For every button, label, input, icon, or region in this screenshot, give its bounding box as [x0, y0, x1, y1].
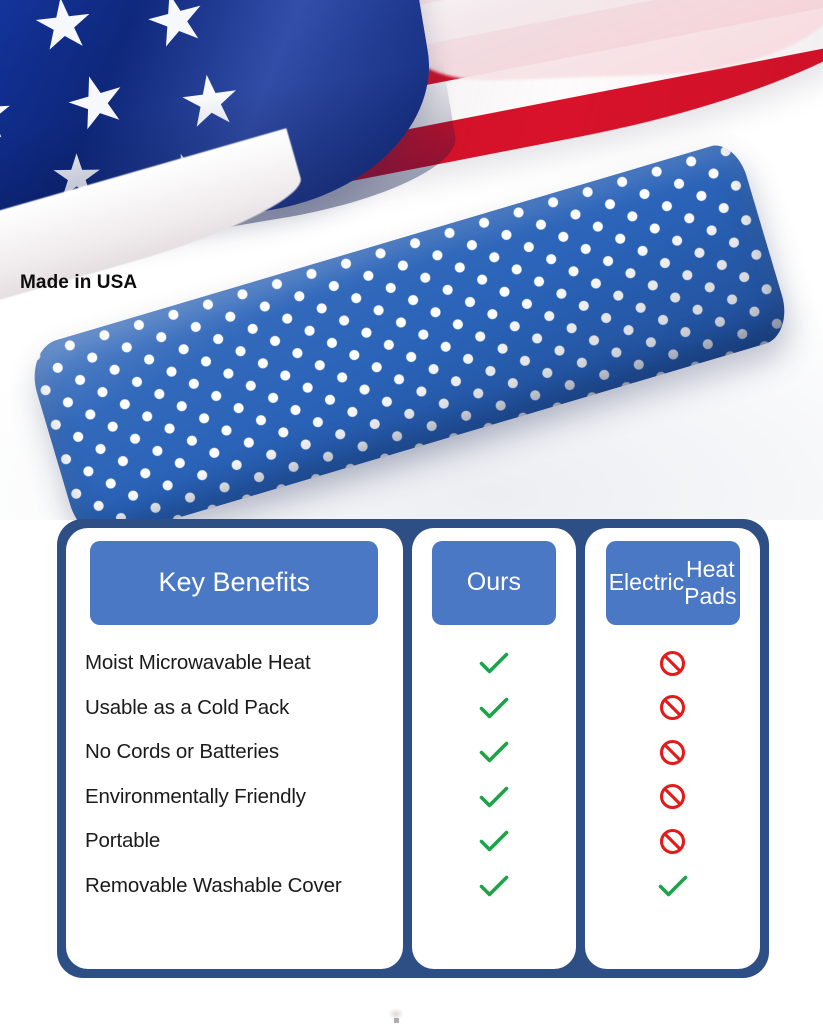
prohibited-icon	[659, 650, 686, 677]
prohibited-icon	[659, 783, 686, 810]
polka-dot-pillow	[24, 139, 794, 520]
check-icon	[479, 874, 509, 898]
table-row	[412, 864, 577, 909]
table-row: Removable Washable Cover	[66, 864, 403, 909]
check-icon	[479, 651, 509, 675]
table-row: Usable as a Cold Pack	[66, 686, 403, 731]
made-in-usa-caption: Made in USA	[20, 272, 137, 294]
electric-mark-list	[585, 641, 760, 908]
check-icon	[479, 829, 509, 853]
product-hero-photo: Made in USA	[0, 0, 823, 520]
table-row	[412, 730, 577, 775]
prohibited-icon	[659, 694, 686, 721]
ours-mark-list	[412, 641, 577, 908]
check-icon	[479, 740, 509, 764]
table-row	[412, 775, 577, 820]
image-artifact-speck	[394, 1018, 399, 1023]
table-row	[412, 819, 577, 864]
table-row	[585, 819, 760, 864]
column-header-electric-heat-pads: ElectricHeat Pads	[606, 541, 740, 625]
table-row: Portable	[66, 819, 403, 864]
check-icon	[479, 696, 509, 720]
table-row	[585, 641, 760, 686]
header-line-2: Heat Pads	[684, 556, 736, 610]
header-line-1: Electric	[609, 569, 684, 596]
heat-pack-product-image	[38, 148, 798, 518]
table-row	[585, 775, 760, 820]
table-row	[585, 864, 760, 909]
column-electric-heat-pads: ElectricHeat Pads	[585, 528, 760, 969]
table-row: Moist Microwavable Heat	[66, 641, 403, 686]
benefit-label-list: Moist Microwavable Heat Usable as a Cold…	[66, 641, 403, 908]
check-icon	[658, 874, 688, 898]
column-header-ours: Ours	[432, 541, 556, 625]
table-row: Environmentally Friendly	[66, 775, 403, 820]
table-row	[412, 686, 577, 731]
table-row: No Cords or Batteries	[66, 730, 403, 775]
check-icon	[479, 785, 509, 809]
prohibited-icon	[659, 828, 686, 855]
table-row	[412, 641, 577, 686]
prohibited-icon	[659, 739, 686, 766]
column-ours: Ours	[412, 528, 577, 969]
comparison-table: Key Benefits Moist Microwavable Heat Usa…	[57, 519, 769, 978]
column-header-key-benefits: Key Benefits	[90, 541, 378, 625]
table-row	[585, 686, 760, 731]
column-key-benefits: Key Benefits Moist Microwavable Heat Usa…	[66, 528, 403, 969]
table-row	[585, 730, 760, 775]
